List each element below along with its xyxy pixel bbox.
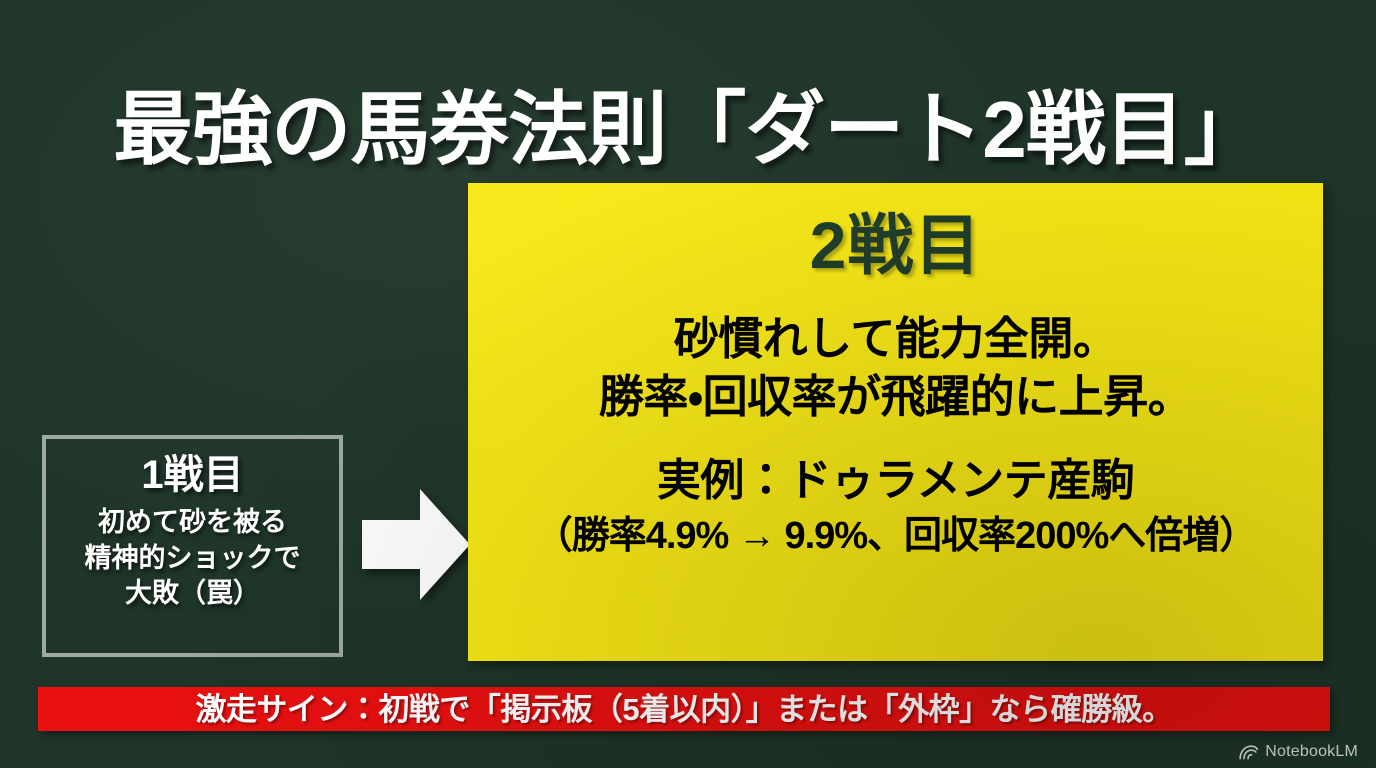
highlight-banner-text: 激走サイン：初戦で「掲示板（5着以内）」または「外枠」なら確勝級。 — [195, 694, 1172, 725]
stage-two-stats: （勝率4.9% → 9.9%、回収率200%へ倍増） — [535, 514, 1257, 560]
stage-two-body-line-1: 砂慣れして能力全開。 — [599, 310, 1192, 368]
notebooklm-logo-icon — [1239, 745, 1258, 760]
stage-two-heading: 2戦目 — [810, 211, 982, 280]
stage-one-line-3: 大敗（罠） — [85, 576, 301, 612]
stage-one-line-1: 初めて砂を被る — [85, 505, 301, 541]
stage-two-example: 実例：ドゥラメンテ産駒 — [657, 455, 1134, 508]
highlight-banner: 激走サイン：初戦で「掲示板（5着以内）」または「外枠」なら確勝級。 — [38, 687, 1330, 731]
arrow-right-icon — [362, 489, 470, 600]
page-title: 最強の馬券法則「ダート2戦目」 — [0, 90, 1376, 170]
stage-one-box: 1戦目 初めて砂を被る 精神的ショックで 大敗（罠） — [42, 435, 343, 657]
stage-one-line-2: 精神的ショックで — [85, 541, 301, 577]
watermark: NotebookLM — [1239, 744, 1358, 760]
stage-one-description: 初めて砂を被る 精神的ショックで 大敗（罠） — [85, 505, 301, 612]
stage-two-panel: 2戦目 砂慣れして能力全開。 勝率・回収率が飛躍的に上昇。 実例：ドゥラメンテ産… — [468, 183, 1323, 661]
stage-two-body: 砂慣れして能力全開。 勝率・回収率が飛躍的に上昇。 — [599, 310, 1192, 425]
slide-canvas: 最強の馬券法則「ダート2戦目」 1戦目 初めて砂を被る 精神的ショックで 大敗（… — [0, 0, 1376, 768]
stage-two-body-line-2: 勝率・回収率が飛躍的に上昇。 — [599, 368, 1192, 426]
watermark-label: NotebookLM — [1265, 744, 1358, 760]
stage-one-heading: 1戦目 — [141, 453, 243, 497]
